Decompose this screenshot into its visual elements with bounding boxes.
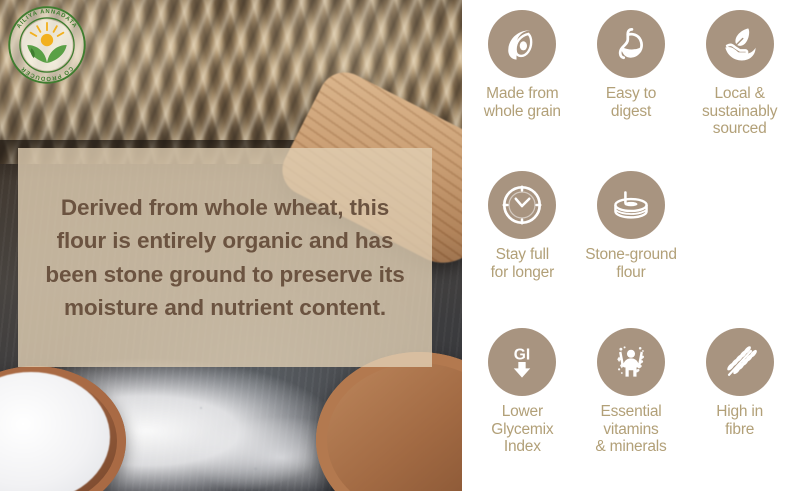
hand-holding-leaf-icon — [706, 10, 774, 78]
promo-headline: Derived from whole wheat, this flour is … — [40, 191, 410, 324]
promo-text-panel: Derived from whole wheat, this flour is … — [18, 148, 432, 367]
benefit-label: Essential vitamins & minerals — [595, 403, 666, 456]
benefit-essential-vitamins-minerals[interactable]: Essential vitamins & minerals — [577, 326, 686, 456]
millstone-icon — [597, 171, 665, 239]
benefit-easy-to-digest[interactable]: Easy to digest — [577, 8, 686, 120]
benefit-local-sustainably-sourced[interactable]: Local & sustainably sourced — [685, 8, 794, 138]
brand-logo: AILIYA ANNADATA CO PRODUCER — [6, 4, 88, 86]
benefit-label: Stay full for longer — [491, 246, 554, 281]
benefit-label: High in fibre — [716, 403, 763, 438]
benefit-label: Stone-ground flour — [585, 246, 677, 281]
bowl-flour-contents — [0, 372, 110, 491]
svg-text:GI: GI — [514, 346, 530, 363]
wheat-stalk-icon — [706, 328, 774, 396]
benefit-stay-full-for-longer[interactable]: Stay full for longer — [468, 167, 577, 281]
gi-down-arrow-icon: GI — [488, 328, 556, 396]
bowl-grain-contents — [334, 366, 462, 491]
benefit-label: Made from whole grain — [484, 85, 561, 120]
person-vitamins-icon — [597, 328, 665, 396]
benefit-label: Lower Glycemix Index — [491, 403, 553, 456]
benefit-made-from-whole-grain[interactable]: Made from whole grain — [468, 8, 577, 120]
product-benefits-infographic: AILIYA ANNADATA CO PRODUCER Derived from… — [0, 0, 800, 491]
wheat-seed-icon — [488, 10, 556, 78]
benefits-grid: Made from whole grain Easy to digest — [462, 0, 800, 491]
benefit-lower-glycemix-index[interactable]: GI Lower Glycemix Index — [468, 326, 577, 456]
benefit-label: Easy to digest — [606, 85, 656, 120]
benefit-high-in-fibre[interactable]: High in fibre — [685, 326, 794, 438]
stomach-icon — [597, 10, 665, 78]
benefit-label: Local & sustainably sourced — [702, 85, 777, 138]
clock-icon — [488, 171, 556, 239]
benefit-stone-ground-flour[interactable]: Stone-ground flour — [577, 167, 686, 281]
